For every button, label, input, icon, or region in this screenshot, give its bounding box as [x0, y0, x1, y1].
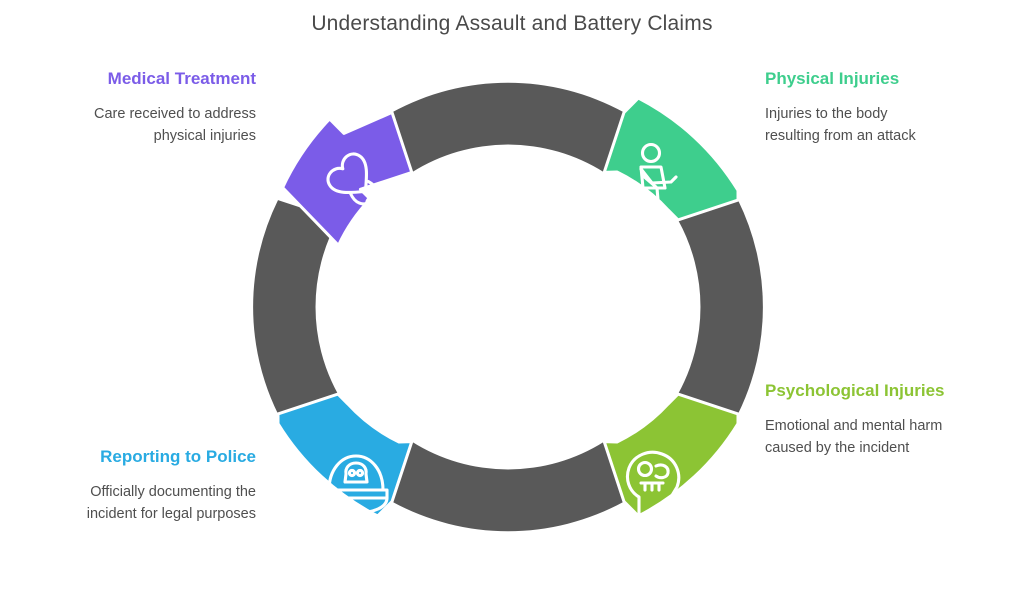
label-physical-injuries-heading: Physical Injuries: [765, 66, 943, 92]
label-reporting-to-police-description: Officially documenting the incident for …: [78, 481, 256, 526]
label-medical-treatment-description: Care received to address physical injuri…: [78, 103, 256, 148]
segment-physical-injuries[interactable]: [604, 98, 738, 220]
label-medical-treatment: Medical Treatment Care received to addre…: [78, 66, 256, 147]
label-psychological-injuries-heading: Psychological Injuries: [765, 378, 955, 404]
label-physical-injuries-description: Injuries to the body resulting from an a…: [765, 103, 943, 148]
label-psychological-injuries: Psychological Injuries Emotional and men…: [765, 378, 955, 459]
segment-physical-injuries-shape[interactable]: [604, 98, 738, 220]
ring-arc-right: [678, 200, 763, 414]
label-psychological-injuries-description: Emotional and mental harm caused by the …: [765, 415, 955, 460]
segment-psychological-injuries[interactable]: [604, 394, 738, 519]
ring-arc-top: [392, 83, 624, 173]
segment-reporting-to-police[interactable]: [278, 394, 412, 516]
label-physical-injuries: Physical Injuries Injuries to the body r…: [765, 66, 943, 147]
label-reporting-to-police-heading: Reporting to Police: [78, 444, 256, 470]
label-reporting-to-police: Reporting to Police Officially documenti…: [78, 444, 256, 525]
ring-arc-bottom: [392, 442, 624, 532]
label-medical-treatment-heading: Medical Treatment: [78, 66, 256, 92]
